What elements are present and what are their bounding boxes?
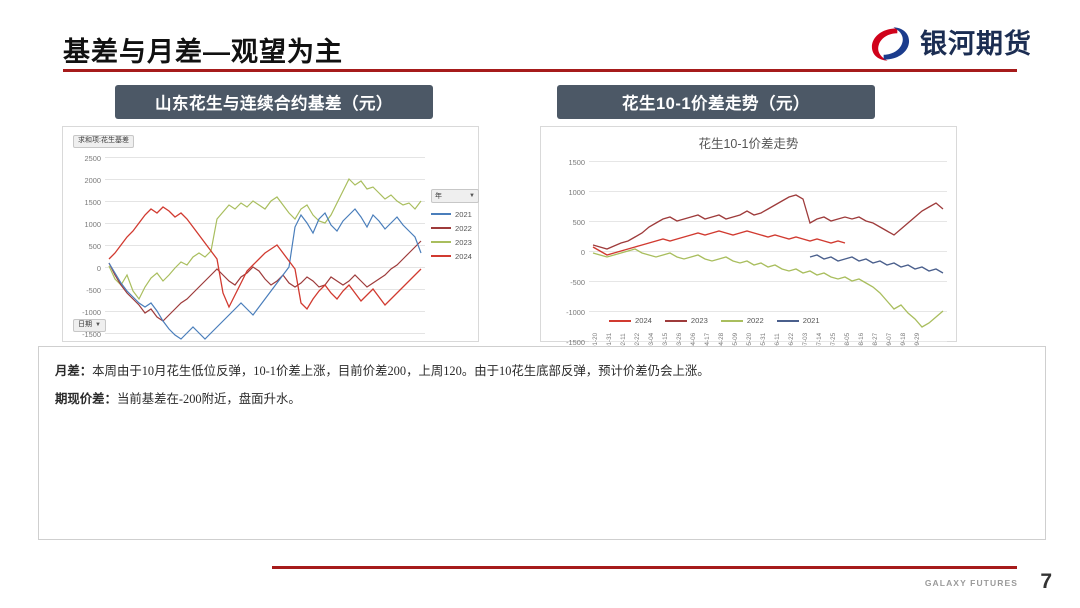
legend-swatch-2022 [431, 227, 451, 229]
page-number: 7 [1040, 570, 1052, 594]
y-tick: 500 [543, 219, 585, 226]
legend-item-2022[interactable]: 2022 [721, 316, 764, 325]
section-banner-basis: 山东花生与连续合约基差（元） [115, 85, 433, 119]
legend-swatch-2023 [431, 241, 451, 243]
footer-divider [272, 566, 1017, 569]
legend-label-2024: 2024 [635, 316, 652, 325]
commentary-box: 月差：本周由于10月花生低位反弹，10-1价差上涨，目前价差200，上周120。… [38, 346, 1046, 540]
y-tick: 2000 [65, 177, 101, 184]
footer-brand: GALAXY FUTURES [925, 578, 1018, 588]
commentary-label-basis: 期现价差： [55, 392, 117, 406]
legend-swatch-2021 [777, 320, 799, 322]
legend-item-2021[interactable]: 2021 [431, 207, 479, 221]
legend-year-filter-button[interactable]: 年 ▼ [431, 189, 479, 203]
commentary-text-month-spread: 本周由于10月花生低位反弹，10-1价差上涨，目前价差200，上周120。由于1… [92, 364, 709, 378]
chevron-down-icon: ▼ [95, 322, 101, 330]
legend-swatch-2023 [665, 320, 687, 322]
y-tick: 0 [65, 265, 101, 272]
y-tick: -500 [65, 287, 101, 294]
y-tick: 500 [65, 243, 101, 250]
y-tick: 2500 [65, 155, 101, 162]
commentary-text-basis: 当前基差在-200附近，盘面升水。 [117, 392, 301, 406]
y-tick: 1500 [543, 159, 585, 166]
legend-label-2022: 2022 [455, 224, 472, 233]
legend-basis: 年 ▼ 2021 2022 2023 2024 [431, 189, 479, 263]
chart-panel-basis: 求和项:花生基差 2500 2000 1500 1000 500 0 -500 … [62, 126, 479, 342]
slide-root: 基差与月差—观望为主 银河期货 山东花生与连续合约基差（元） 花生10-1价差走… [0, 0, 1080, 608]
y-tick: -500 [543, 279, 585, 286]
spread-chart-title: 花生10-1价差走势 [541, 133, 956, 152]
pivot-field-label: 求和项:花生基差 [78, 137, 129, 146]
legend-spread: 2024 2023 2022 2021 [609, 316, 820, 325]
legend-swatch-2022 [721, 320, 743, 322]
legend-item-2023[interactable]: 2023 [431, 235, 479, 249]
y-tick: -1000 [65, 309, 101, 316]
section-banner-spread: 花生10-1价差走势（元） [557, 85, 875, 119]
legend-item-2022[interactable]: 2022 [431, 221, 479, 235]
y-tick: 1500 [65, 199, 101, 206]
legend-swatch-2024 [609, 320, 631, 322]
legend-swatch-2021 [431, 213, 451, 215]
title-divider [63, 69, 1017, 72]
chevron-down-icon: ▼ [469, 193, 475, 199]
date-filter-label: 日期 [78, 321, 92, 330]
legend-item-2021[interactable]: 2021 [777, 316, 820, 325]
galaxy-swirl-icon [868, 24, 911, 64]
commentary-line-month-spread: 月差：本周由于10月花生低位反弹，10-1价差上涨，目前价差200，上周120。… [55, 361, 710, 379]
legend-label-2021: 2021 [455, 210, 472, 219]
y-tick: 1000 [65, 221, 101, 228]
chart-panel-spread: 花生10-1价差走势 1500 1000 500 0 -500 -1000 -1… [540, 126, 957, 342]
legend-label-2022: 2022 [747, 316, 764, 325]
y-tick: -1500 [65, 331, 101, 338]
page-title: 基差与月差—观望为主 [63, 30, 343, 69]
legend-label-2023: 2023 [455, 238, 472, 247]
legend-swatch-2024 [431, 255, 451, 257]
brand-logo-text: 银河期货 [920, 31, 1032, 58]
legend-label-2023: 2023 [691, 316, 708, 325]
commentary-line-basis: 期现价差：当前基差在-200附近，盘面升水。 [55, 389, 301, 407]
commentary-label-month-spread: 月差： [55, 364, 92, 378]
legend-item-2024[interactable]: 2024 [431, 249, 479, 263]
brand-logo: 银河期货 [868, 22, 1032, 66]
legend-item-2023[interactable]: 2023 [665, 316, 708, 325]
legend-year-label: 年 [435, 191, 442, 201]
y-tick: 1000 [543, 189, 585, 196]
legend-label-2021: 2021 [803, 316, 820, 325]
date-filter-button[interactable]: 日期 ▼ [73, 319, 106, 332]
pivot-field-button[interactable]: 求和项:花生基差 [73, 135, 134, 148]
y-tick: 0 [543, 249, 585, 256]
y-tick: -1000 [543, 309, 585, 316]
legend-label-2024: 2024 [455, 252, 472, 261]
legend-item-2024[interactable]: 2024 [609, 316, 652, 325]
